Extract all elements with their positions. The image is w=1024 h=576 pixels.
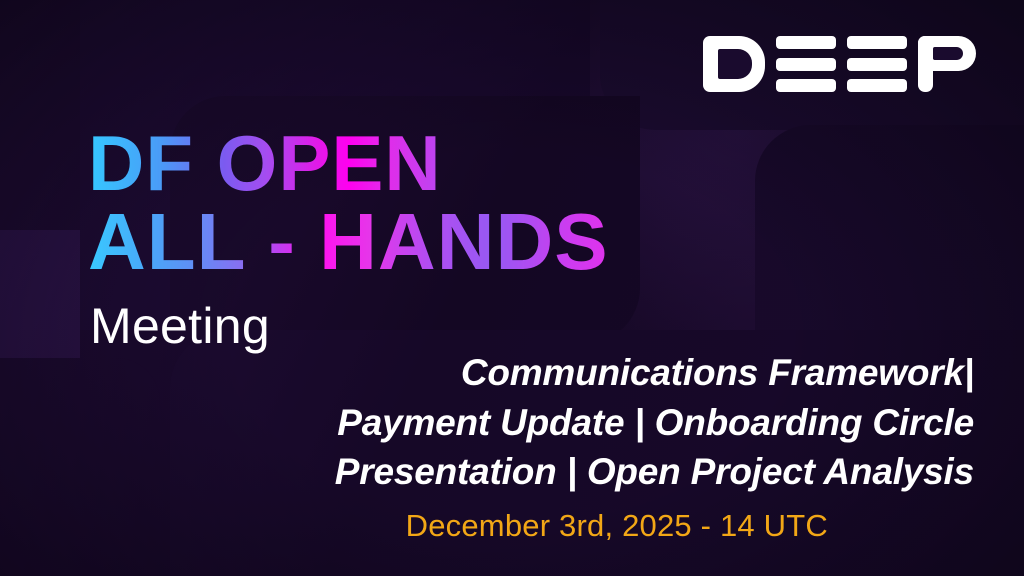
logo-letter-p-icon [918, 36, 976, 92]
agenda-line: Payment Update | Onboarding Circle [284, 398, 974, 448]
agenda-list: Communications Framework| Payment Update… [284, 348, 974, 497]
event-date-time: December 3rd, 2025 - 14 UTC [406, 508, 828, 544]
agenda-line: Presentation | Open Project Analysis [284, 447, 974, 497]
event-banner: DF OPEN ALL - HANDS Meeting Communicatio… [0, 0, 1024, 576]
logo-letter-d-icon [703, 36, 765, 92]
headline-line-1: DF OPEN [88, 126, 609, 200]
headline-line-2: ALL - HANDS [88, 204, 609, 280]
agenda-line: Communications Framework| [284, 348, 974, 398]
page-title: DF OPEN ALL - HANDS [88, 126, 609, 280]
background-shape-7 [0, 358, 160, 576]
headline-subtitle: Meeting [90, 297, 270, 355]
logo-letter-e-first-icon [776, 36, 836, 92]
logo-letter-e-second-icon [847, 36, 907, 92]
deep-logo [703, 36, 976, 92]
